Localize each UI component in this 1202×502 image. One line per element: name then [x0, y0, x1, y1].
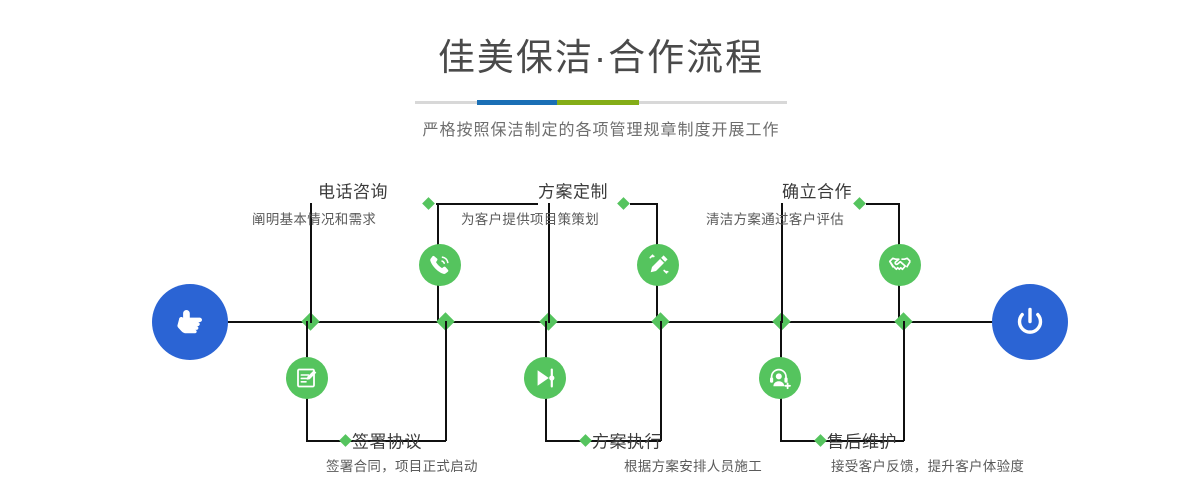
- step-title-4: 方案执行: [592, 428, 662, 453]
- phone-call-icon: [427, 252, 453, 278]
- step-subtitle-2: 签署合同，项目正式启动: [326, 455, 478, 475]
- step-label-dot-3: [617, 197, 630, 210]
- step-connector-elbow-5: [866, 203, 900, 205]
- step-icon-4: [524, 357, 566, 399]
- step-label-dot-1: [422, 197, 435, 210]
- cooperation-process-infographic: 佳美保洁·合作流程 严格按照保洁制定的各项管理规章制度开展工作: [0, 0, 1202, 502]
- step-subtitle-5: 清洁方案通过客户评估: [706, 208, 844, 228]
- step-title-5: 确立合作: [782, 178, 852, 203]
- step-icon-3: [637, 244, 679, 286]
- step-connector-stem-2: [445, 321, 447, 441]
- step-connector-elbow-3: [630, 203, 658, 205]
- step-label-dot-2: [339, 434, 352, 447]
- step-icon-6: [759, 357, 801, 399]
- step-label-dot-4: [579, 434, 592, 447]
- step-title-2: 签署协议: [352, 428, 422, 453]
- step-title-1: 电话咨询: [318, 178, 388, 203]
- timeline: 电话咨询 阐明基本情况和需求 签署协: [0, 0, 1202, 502]
- step-subtitle-1: 阐明基本情况和需求: [252, 208, 376, 228]
- customer-support-icon: [767, 365, 793, 391]
- step-subtitle-3: 为客户提供项目策策划: [461, 208, 599, 228]
- pointing-hand-icon: [170, 302, 210, 342]
- step-icon-5: [879, 244, 921, 286]
- handshake-icon: [887, 252, 913, 278]
- power-icon: [1009, 301, 1051, 343]
- step-title-3: 方案定制: [538, 178, 608, 203]
- timeline-end-node: [992, 284, 1068, 360]
- play-execute-icon: [532, 365, 558, 391]
- step-label-dot-5: [853, 197, 866, 210]
- step-label-dot-6: [814, 434, 827, 447]
- step-connector-elbow-1: [436, 203, 538, 205]
- step-connector-stem-4: [660, 321, 662, 441]
- step-connector-stem-6: [903, 321, 905, 441]
- pencil-edit-icon: [645, 252, 671, 278]
- timeline-start-node: [152, 284, 228, 360]
- step-subtitle-4: 根据方案安排人员施工: [624, 455, 762, 475]
- step-title-6: 售后维护: [827, 428, 897, 453]
- step-subtitle-6: 接受客户反馈，提升客户体验度: [831, 455, 1024, 475]
- document-sign-icon: [294, 365, 320, 391]
- step-icon-2: [286, 357, 328, 399]
- step-icon-1: [419, 244, 461, 286]
